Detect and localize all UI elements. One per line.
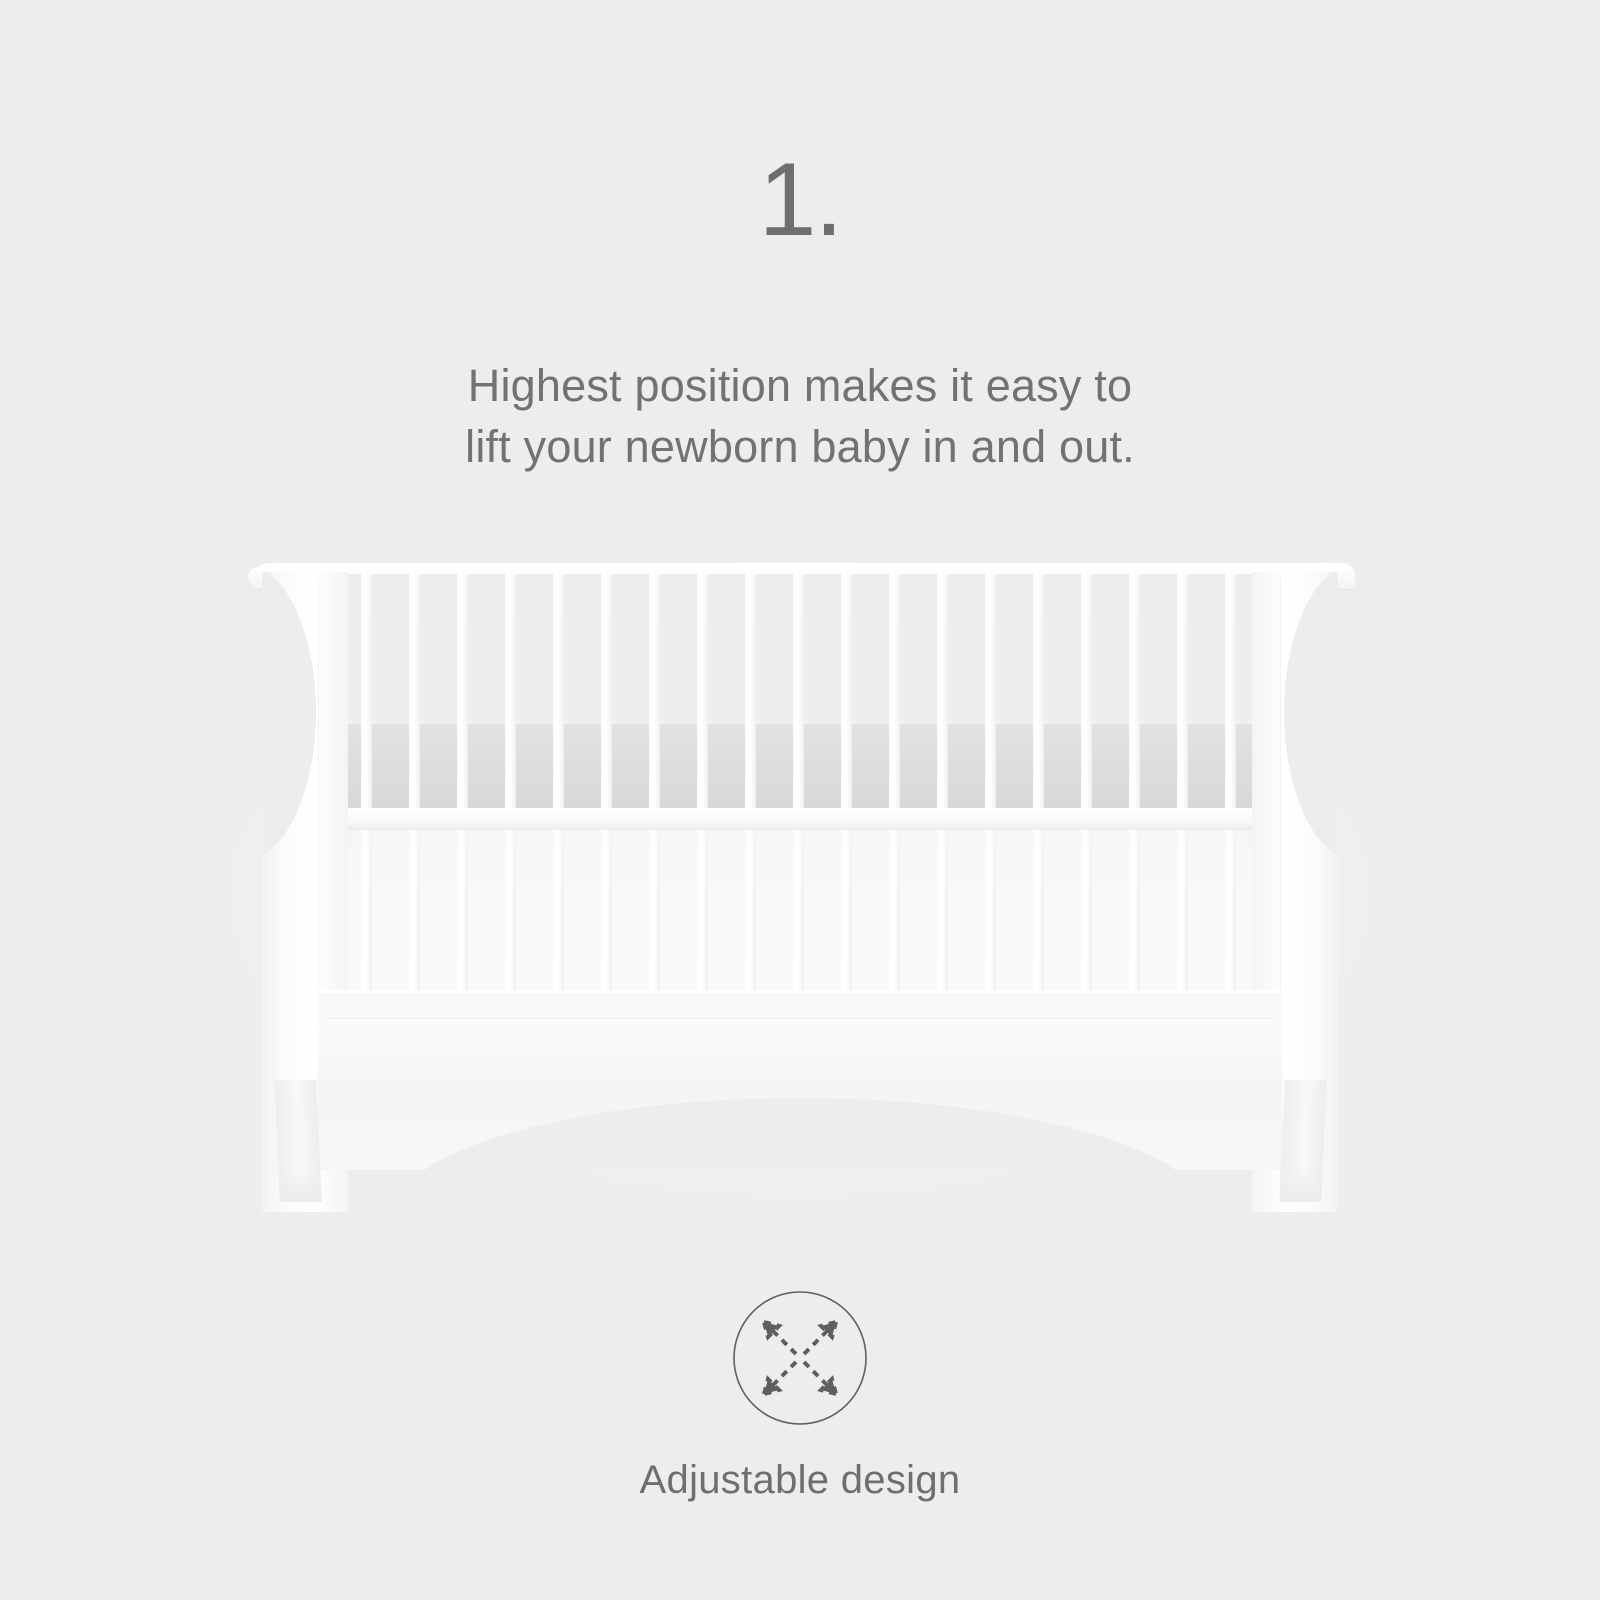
infographic-canvas: 1. Highest position makes it easy to lif… (0, 0, 1600, 1600)
headline-line-1: Highest position makes it easy to (0, 355, 1600, 416)
headline: Highest position makes it easy to lift y… (0, 355, 1600, 477)
step-number: 1. (0, 148, 1600, 252)
cot-slats (342, 574, 1258, 1024)
cot-bed-illustration (200, 520, 1400, 1240)
cot-lower-panel-seam (328, 1018, 1272, 1019)
expand-arrows-icon (732, 1290, 868, 1426)
feature-label: Adjustable design (640, 1460, 961, 1500)
cot-slat-area (342, 574, 1258, 1024)
cot-skirt (318, 1080, 1282, 1170)
cot-leg-left (274, 1080, 321, 1202)
cot-leg-right-fade (1279, 1168, 1322, 1202)
cot-mid-rail (342, 808, 1258, 830)
headline-line-2: lift your newborn baby in and out. (0, 416, 1600, 477)
product-image (200, 520, 1400, 1240)
cot-lower-panel-edge (318, 990, 1282, 993)
cot-leg-right (1279, 1080, 1326, 1202)
feature-badge: Adjustable design (0, 1290, 1600, 1500)
cot-leg-left-fade (278, 1168, 321, 1202)
